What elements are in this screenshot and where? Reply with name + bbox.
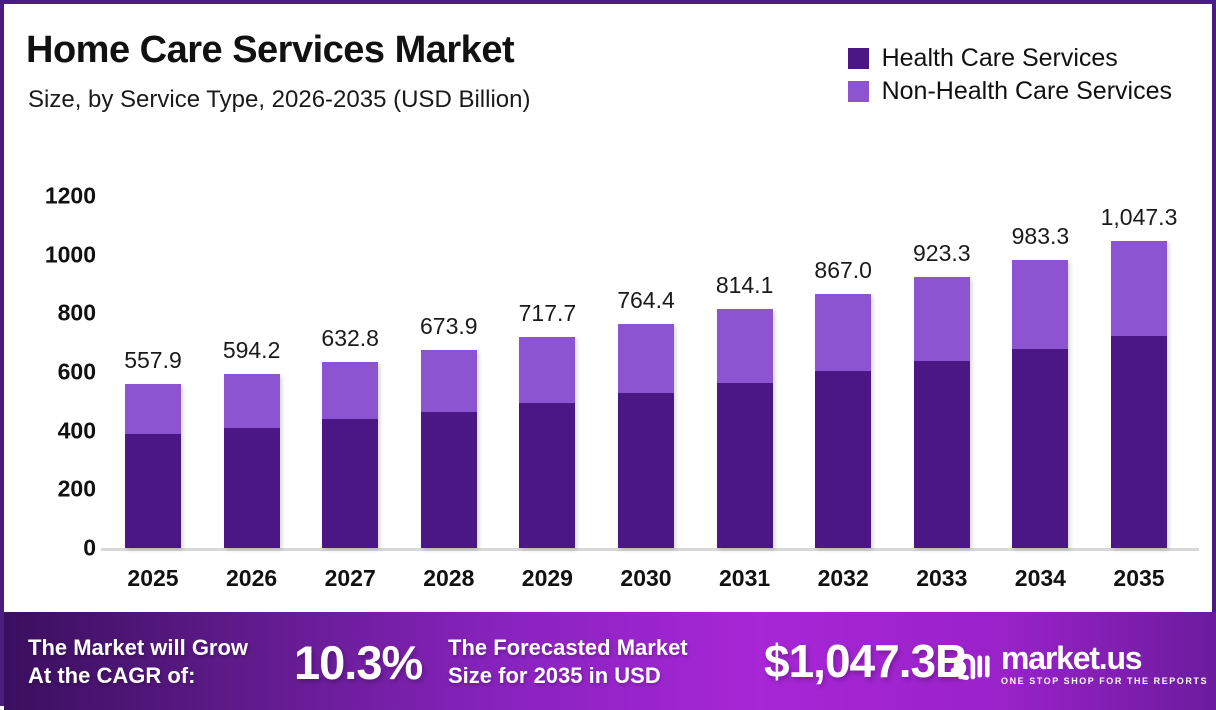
bar-segment-health-care[interactable] xyxy=(1111,336,1167,548)
cagr-caption: The Market will GrowAt the CAGR of: xyxy=(28,634,248,690)
bar-segment-non-health-care[interactable] xyxy=(322,362,378,419)
forecast-caption: The Forecasted MarketSize for 2035 in US… xyxy=(448,634,688,690)
bar-group-2031[interactable]: 814.12031 xyxy=(717,4,773,604)
bar-group-2029[interactable]: 717.72029 xyxy=(519,4,575,604)
bar-group-2034[interactable]: 983.32034 xyxy=(1012,4,1068,604)
x-axis-tick-label: 2034 xyxy=(1015,565,1066,592)
bar-segment-health-care[interactable] xyxy=(618,393,674,548)
bar-value-label: 983.3 xyxy=(1012,223,1070,250)
stacked-bar[interactable] xyxy=(322,362,378,548)
bar-segment-non-health-care[interactable] xyxy=(1012,260,1068,350)
bar-value-label: 717.7 xyxy=(519,300,577,327)
bar-segment-non-health-care[interactable] xyxy=(224,374,280,428)
x-axis-tick-label: 2026 xyxy=(226,565,277,592)
stacked-bar[interactable] xyxy=(1012,260,1068,548)
bar-segment-health-care[interactable] xyxy=(914,361,970,548)
bar-segment-non-health-care[interactable] xyxy=(618,324,674,393)
stacked-bar[interactable] xyxy=(618,324,674,548)
chart-infographic: Home Care Services Market Size, by Servi… xyxy=(0,0,1216,706)
x-axis-tick-label: 2033 xyxy=(916,565,967,592)
bar-segment-health-care[interactable] xyxy=(1012,349,1068,548)
bar-value-label: 867.0 xyxy=(814,257,872,284)
market-us-logo-tagline: ONE STOP SHOP FOR THE REPORTS xyxy=(1001,677,1208,686)
x-axis-tick-label: 2031 xyxy=(719,565,770,592)
forecast-value: $1,047.3B xyxy=(764,634,967,688)
x-axis-tick-label: 2032 xyxy=(818,565,869,592)
chart-plot-area: 020040060080010001200 557.92025594.22026… xyxy=(4,4,1216,604)
x-axis-tick-label: 2029 xyxy=(522,565,573,592)
bar-segment-non-health-care[interactable] xyxy=(421,350,477,412)
stacked-bar[interactable] xyxy=(1111,241,1167,548)
bar-segment-health-care[interactable] xyxy=(717,383,773,548)
bar-segment-non-health-care[interactable] xyxy=(717,309,773,383)
market-us-logo-name: market.us xyxy=(1001,642,1208,674)
bar-segment-health-care[interactable] xyxy=(421,412,477,548)
bar-segment-health-care[interactable] xyxy=(815,371,871,548)
bar-value-label: 557.9 xyxy=(124,347,182,374)
bar-group-2027[interactable]: 632.82027 xyxy=(322,4,378,604)
bar-segment-health-care[interactable] xyxy=(125,434,181,548)
stacked-bar[interactable] xyxy=(815,294,871,548)
bar-value-label: 764.4 xyxy=(617,287,675,314)
bar-segment-health-care[interactable] xyxy=(322,419,378,548)
bar-group-2030[interactable]: 764.42030 xyxy=(618,4,674,604)
stacked-bar[interactable] xyxy=(717,309,773,548)
bar-segment-health-care[interactable] xyxy=(224,428,280,548)
market-us-logo-mark xyxy=(950,647,992,681)
stacked-bar[interactable] xyxy=(125,384,181,548)
bar-group-2026[interactable]: 594.22026 xyxy=(224,4,280,604)
stacked-bar[interactable] xyxy=(421,350,477,548)
x-axis-tick-label: 2027 xyxy=(325,565,376,592)
bar-segment-non-health-care[interactable] xyxy=(1111,241,1167,336)
bar-value-label: 594.2 xyxy=(223,337,281,364)
bar-segment-non-health-care[interactable] xyxy=(815,294,871,371)
footer-banner: The Market will GrowAt the CAGR of: 10.3… xyxy=(4,612,1216,710)
bar-group-2033[interactable]: 923.32033 xyxy=(914,4,970,604)
x-axis-tick-label: 2025 xyxy=(127,565,178,592)
stacked-bar[interactable] xyxy=(914,277,970,548)
bar-series-container: 557.92025594.22026632.82027673.92028717.… xyxy=(4,4,1216,604)
x-axis-tick-label: 2035 xyxy=(1113,565,1164,592)
stacked-bar[interactable] xyxy=(224,374,280,548)
bar-value-label: 814.1 xyxy=(716,272,774,299)
cagr-value: 10.3% xyxy=(294,635,422,690)
bar-value-label: 1,047.3 xyxy=(1101,204,1178,231)
bar-group-2032[interactable]: 867.02032 xyxy=(815,4,871,604)
market-us-logo[interactable]: market.us ONE STOP SHOP FOR THE REPORTS xyxy=(950,642,1208,686)
bar-value-label: 923.3 xyxy=(913,240,971,267)
bar-value-label: 673.9 xyxy=(420,313,478,340)
bar-segment-non-health-care[interactable] xyxy=(125,384,181,434)
bar-segment-health-care[interactable] xyxy=(519,403,575,548)
stacked-bar[interactable] xyxy=(519,337,575,548)
bar-segment-non-health-care[interactable] xyxy=(519,337,575,403)
bar-value-label: 632.8 xyxy=(321,325,379,352)
bar-group-2028[interactable]: 673.92028 xyxy=(421,4,477,604)
x-axis-tick-label: 2028 xyxy=(423,565,474,592)
x-axis-tick-label: 2030 xyxy=(620,565,671,592)
bar-group-2025[interactable]: 557.92025 xyxy=(125,4,181,604)
bar-group-2035[interactable]: 1,047.32035 xyxy=(1111,4,1167,604)
bar-segment-non-health-care[interactable] xyxy=(914,277,970,361)
